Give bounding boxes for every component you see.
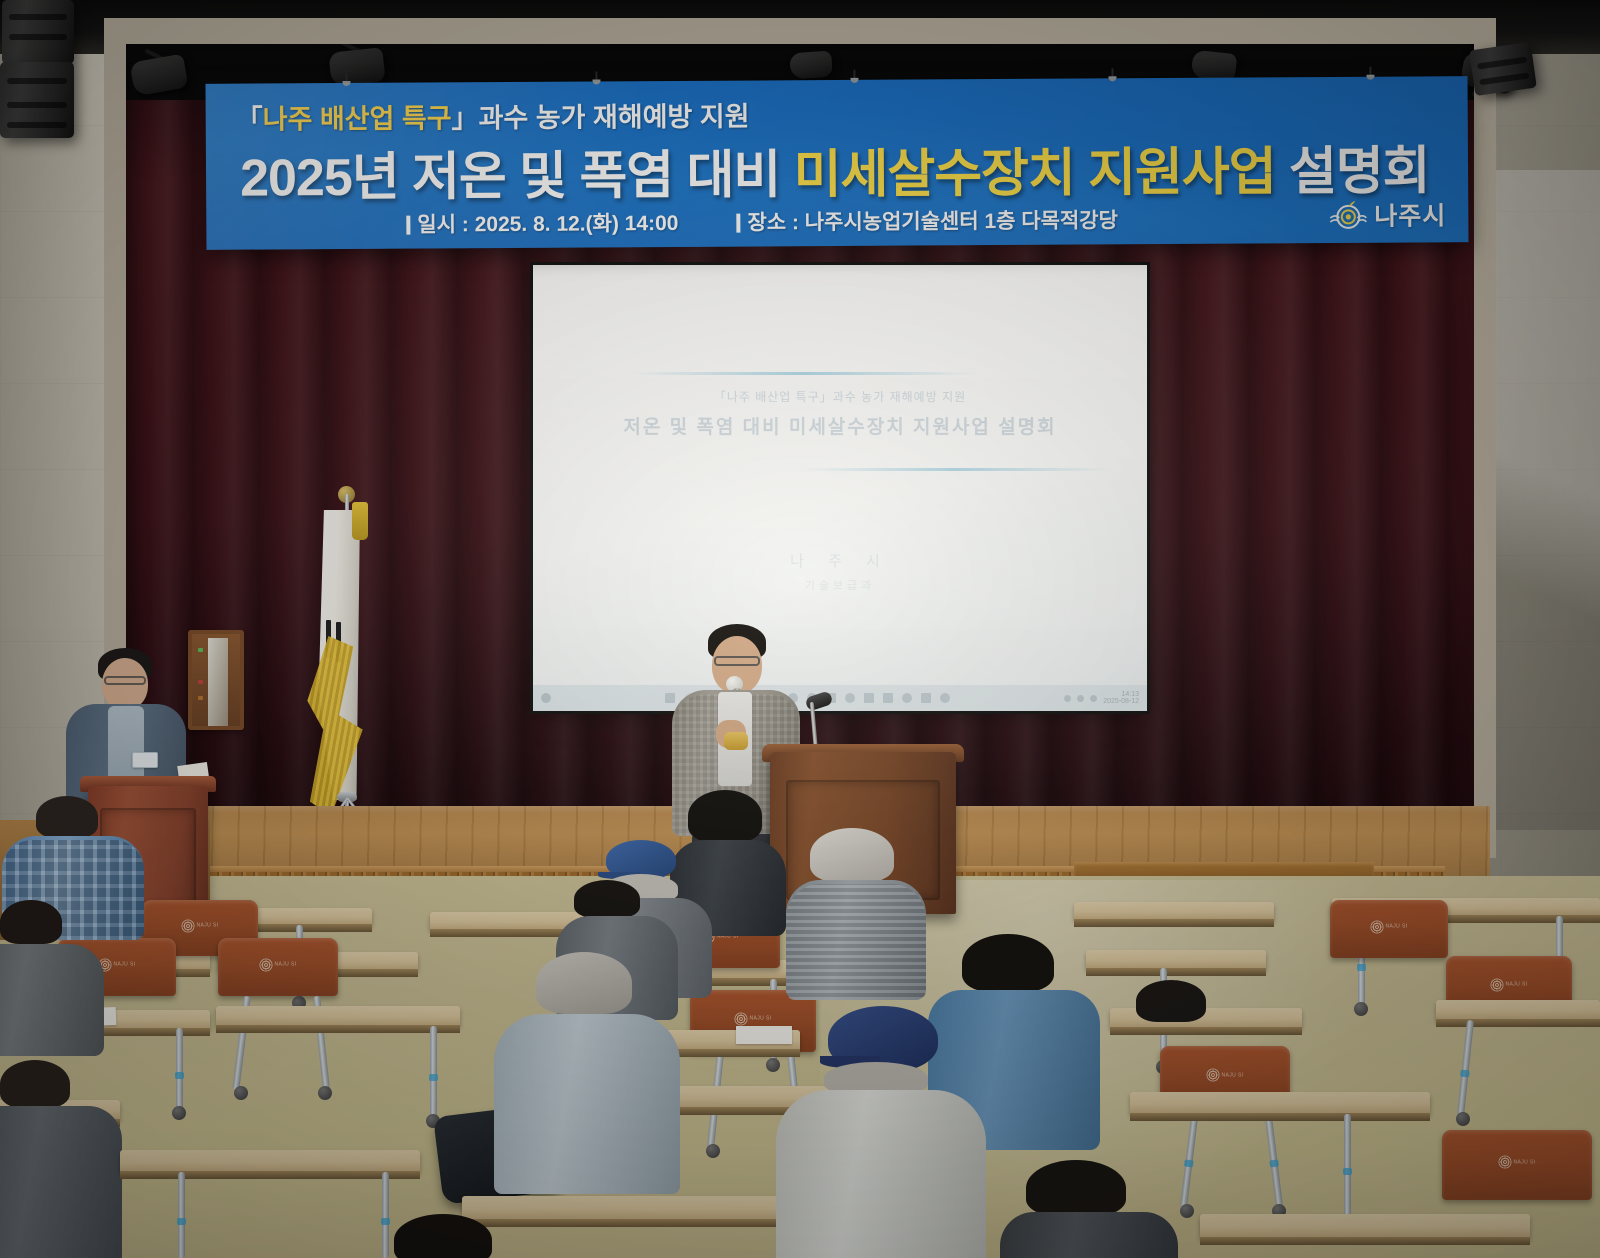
table-leg — [176, 1028, 183, 1110]
banner-date: 일시 : 2025. 8. 12.(화) 14:00 — [406, 207, 678, 239]
audience-member — [1118, 980, 1238, 1060]
naju-city-logo: 나주시 — [1328, 196, 1446, 233]
banner-hook-5 — [1369, 67, 1371, 79]
cabinet-led-green — [198, 648, 203, 652]
chair-emblem-icon: NAJU SI — [1371, 920, 1408, 933]
taskbar-system-tray[interactable]: 14:13 2025-08-12 — [1064, 691, 1139, 706]
slide-divider-bottom — [803, 468, 1110, 471]
audience-member — [786, 828, 916, 978]
banner-subtitle-suffix: 」과수 농가 재해예방 지원 — [452, 102, 750, 134]
chair-caster — [706, 1144, 720, 1158]
table-leg — [178, 1172, 185, 1258]
banner-place-text: 장소 : 나주시농업기술센터 1층 다목적강당 — [747, 209, 1118, 234]
slide-divider-top — [631, 372, 975, 375]
media-icon[interactable] — [940, 693, 950, 703]
chair-caster — [1456, 1112, 1470, 1126]
chair-emblem-icon: NAJU SI — [1491, 978, 1528, 991]
table-caster — [1354, 1002, 1368, 1016]
chair-emblem-icon: NAJU SI — [1207, 1069, 1244, 1082]
banner-hook-3 — [853, 70, 855, 82]
presenter-held-object — [724, 732, 748, 750]
table-row — [1074, 902, 1274, 920]
table-row — [1130, 1092, 1430, 1114]
volume-icon[interactable] — [1090, 695, 1097, 702]
banner-subtitle-highlight: 나주 배산업 특구 — [263, 103, 452, 134]
table-row — [216, 1006, 460, 1026]
banner-details: 일시 : 2025. 8. 12.(화) 14:00 장소 : 나주시농업기술센… — [406, 200, 1446, 240]
slide-department: 기술보급과 — [533, 577, 1147, 593]
banner-hook-2 — [595, 71, 597, 83]
banner-place: 장소 : 나주시농업기술센터 1층 다목적강당 — [736, 204, 1118, 236]
flag-tassel — [352, 502, 368, 540]
slide-subtitle: 「나주 배산업 특구」과수 농가 재해예방 지원 — [533, 388, 1147, 405]
table-row — [1200, 1214, 1530, 1238]
audience-member — [0, 1060, 124, 1258]
banner-title-highlight: 미세살수장치 지원사업 — [794, 143, 1276, 204]
naju-logo-text: 나주시 — [1374, 196, 1446, 232]
projection-screen: 「나주 배산업 특구」과수 농가 재해예방 지원 저온 및 폭염 대비 미세살수… — [533, 265, 1147, 711]
word-icon[interactable] — [921, 693, 931, 703]
host-glasses-icon — [104, 676, 146, 685]
table-leg — [1344, 1114, 1351, 1218]
mail-icon[interactable] — [845, 693, 855, 703]
banner-title: 2025년 저온 및 폭염 대비 미세살수장치 지원사업 설명회 — [240, 128, 1452, 210]
event-banner: 「나주 배산업 특구」과수 농가 재해예방 지원 2025년 저온 및 폭염 대… — [206, 76, 1469, 250]
excel-icon[interactable] — [883, 693, 893, 703]
network-icon[interactable] — [1077, 695, 1084, 702]
presenter-glasses-icon — [714, 656, 760, 666]
chair[interactable]: NAJU SI — [218, 938, 338, 996]
powerpoint-icon[interactable] — [864, 693, 874, 703]
striped-shirt-pattern — [786, 884, 926, 1000]
slide-title: 저온 및 폭염 대비 미세살수장치 지원사업 설명회 — [533, 412, 1147, 439]
chair-emblem-icon: NAJU SI — [182, 919, 219, 932]
conference-hall-photo: 「나주 배산업 특구」과수 농가 재해예방 지원 저온 및 폭염 대비 미세살수… — [0, 0, 1600, 1258]
clock-date: 2025-08-12 — [1103, 698, 1139, 705]
audience-member — [494, 952, 670, 1182]
table-row — [1086, 950, 1266, 969]
banner-hook-4 — [1111, 68, 1113, 80]
audience-member-with-cap — [776, 1006, 976, 1258]
chair-emblem-icon: NAJU SI — [735, 1012, 772, 1025]
cabinet-led-amber — [198, 696, 203, 700]
cabinet-led-red — [198, 680, 203, 684]
cloud-icon — [541, 693, 551, 703]
chevron-up-icon[interactable] — [1064, 695, 1071, 702]
banner-title-part1: 2025년 저온 및 폭염 대비 — [240, 146, 794, 207]
chair[interactable]: NAJU SI — [1442, 1130, 1592, 1200]
table-caster — [172, 1106, 186, 1120]
banner-subtitle-prefix: 「 — [236, 105, 263, 135]
audience-member — [1000, 1160, 1170, 1258]
audience-member — [0, 900, 110, 1050]
taskbar-clock[interactable]: 14:13 2025-08-12 — [1103, 691, 1139, 706]
windows-taskbar[interactable]: 14:13 2025-08-12 — [533, 685, 1147, 711]
chair-caster — [234, 1086, 248, 1100]
chair[interactable]: NAJU SI — [1330, 900, 1448, 958]
chair-emblem-icon: NAJU SI — [1499, 1156, 1536, 1169]
clock-time: 14:13 — [1103, 691, 1139, 698]
host-name-badge — [132, 752, 158, 768]
table-row — [1436, 1000, 1600, 1020]
av-control-cabinet[interactable] — [188, 630, 244, 730]
cabinet-glass-panel — [208, 638, 228, 726]
banner-hook-1 — [345, 73, 347, 85]
white-hair — [810, 828, 894, 882]
gray-hair — [536, 952, 632, 1014]
pa-speaker-top-left-icon — [2, 0, 74, 64]
pa-speaker-left-icon — [0, 62, 74, 138]
pa-speaker-right-icon — [1469, 42, 1537, 96]
banner-title-part2: 설명회 — [1275, 142, 1429, 201]
table-row — [120, 1150, 420, 1172]
slide-organization: 나 주 시 — [533, 550, 1147, 571]
chair-caster — [318, 1086, 332, 1100]
table-leg — [430, 1026, 437, 1118]
chair-emblem-icon: NAJU SI — [260, 958, 297, 971]
chair-caster — [1180, 1204, 1194, 1218]
naju-logo-mark-icon — [1328, 198, 1368, 232]
hancom-icon[interactable] — [902, 693, 912, 703]
audience-member — [370, 1214, 540, 1258]
taskbar-weather-widget[interactable] — [541, 693, 551, 703]
banner-date-text: 일시 : 2025. 8. 12.(화) 14:00 — [417, 212, 678, 237]
